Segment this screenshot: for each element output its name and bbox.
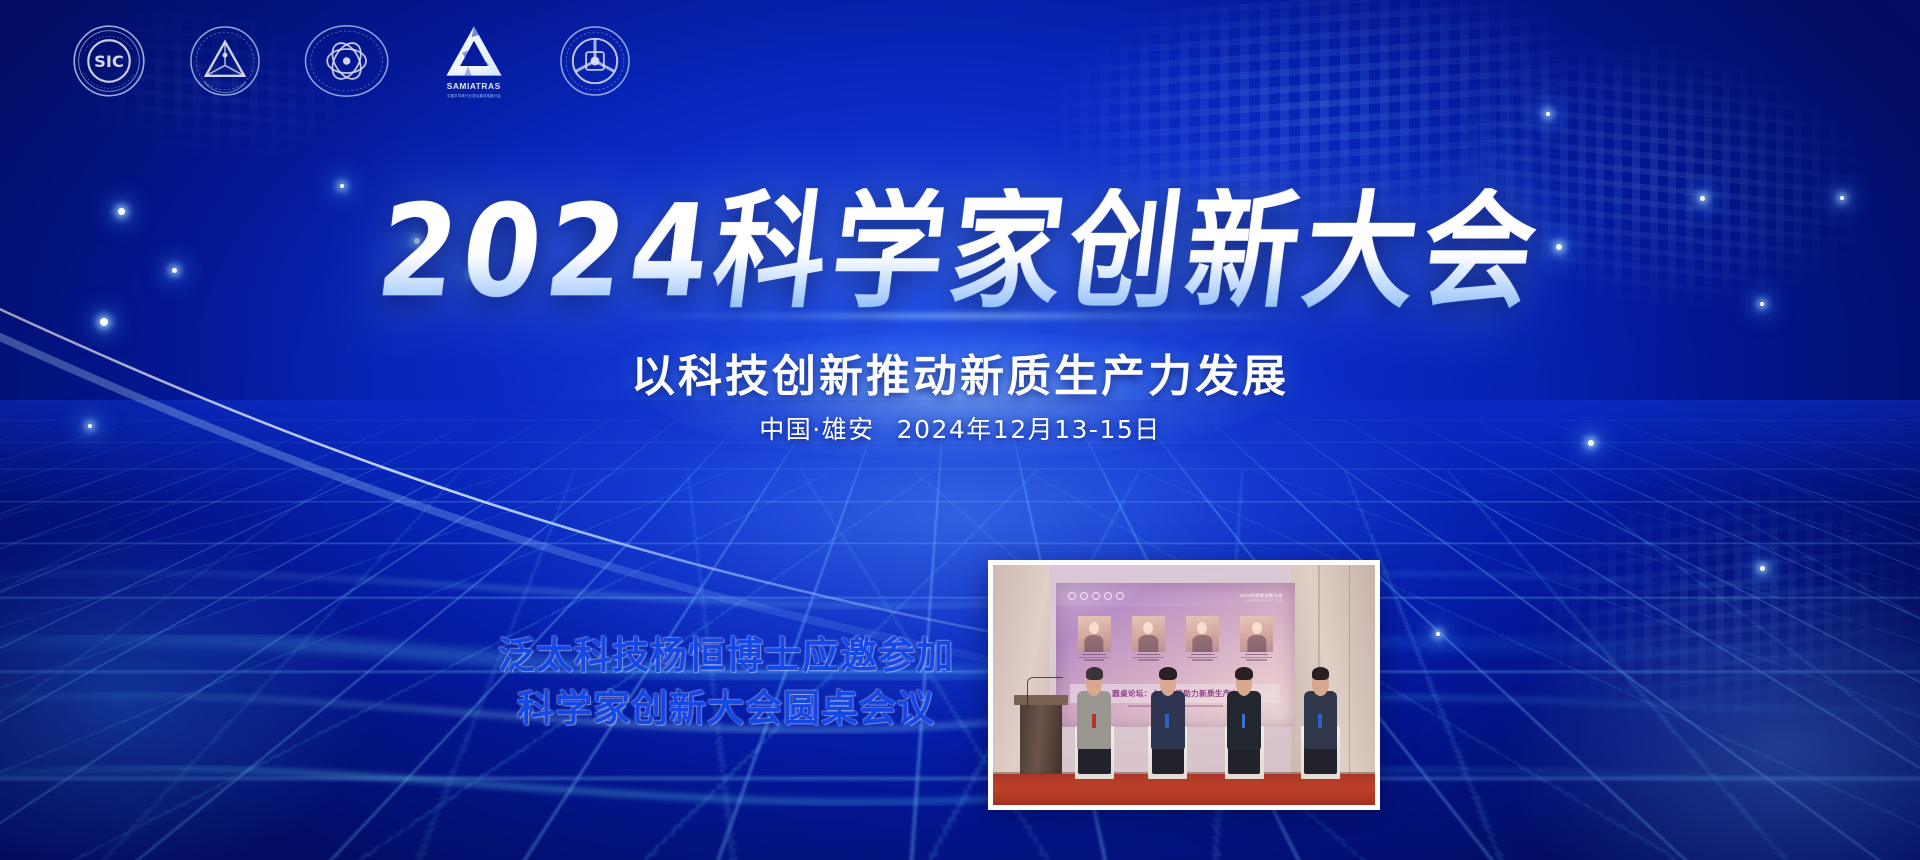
samiatras-triangle-logo-icon: SAMIATRAS 中国半导体行业协会集成电路分会 — [432, 24, 516, 98]
caption-line-1: 泛太科技杨恒博士应邀参加 — [466, 630, 986, 683]
sparkle — [340, 184, 344, 188]
digital-block-field-bottom-right — [1500, 448, 1920, 792]
samiatras-wordmark-sub: 中国半导体行业协会集成电路分会 — [447, 93, 501, 98]
photo-panelist — [1299, 663, 1341, 778]
date-line: 中国·雄安2024年12月13-15日 — [0, 410, 1920, 446]
conference-poster: SIC — [0, 0, 1920, 860]
sic-emblem-icon: SIC — [72, 24, 146, 98]
left-glow — [0, 520, 380, 860]
svg-text:SIC: SIC — [94, 52, 124, 71]
title-underglow — [600, 312, 1320, 320]
sparkle — [1760, 566, 1765, 571]
sponsor-logo-row: SIC — [72, 22, 632, 100]
date-text: 2024年12月13-15日 — [897, 415, 1161, 444]
sparkle — [100, 318, 108, 326]
photo-panelist — [1073, 663, 1115, 778]
sparkle — [1546, 112, 1550, 116]
atom-seal-emblem-icon — [304, 22, 390, 100]
main-title: 2024科学家创新大会 — [361, 188, 1558, 316]
event-caption: 泛太科技杨恒博士应邀参加 科学家创新大会圆桌会议 — [466, 630, 986, 735]
photo-content: 2024科学家创新大会 以科技创新推动新质生产力发展 — [993, 565, 1375, 805]
circular-network-emblem-icon — [558, 24, 632, 98]
photo-panelists — [1073, 663, 1356, 778]
sparkle — [1436, 632, 1440, 636]
photo-screen-logo-strip — [1068, 592, 1124, 600]
title-block: 2024科学家创新大会 — [0, 196, 1920, 308]
photo-screen-brand: 2024科学家创新大会 以科技创新推动新质生产力发展 — [1240, 593, 1283, 603]
bottom-right-glow — [1500, 560, 1920, 860]
photo-panelist — [1147, 663, 1189, 778]
samiatras-wordmark: SAMIATRAS — [447, 82, 501, 91]
triangle-seal-emblem-icon — [188, 24, 262, 98]
sub-title: 以科技创新推动新质生产力发展 — [0, 340, 1920, 404]
roundtable-panel-photo: 2024科学家创新大会 以科技创新推动新质生产力发展 — [988, 560, 1380, 810]
photo-screen-brand-sub: 以科技创新推动新质生产力发展 — [1240, 599, 1283, 603]
caption-line-2: 科学家创新大会圆桌会议 — [466, 683, 986, 736]
location-text: 中国·雄安 — [759, 415, 874, 444]
photo-panelist — [1223, 663, 1265, 778]
photo-microphone-stand — [1027, 677, 1062, 707]
